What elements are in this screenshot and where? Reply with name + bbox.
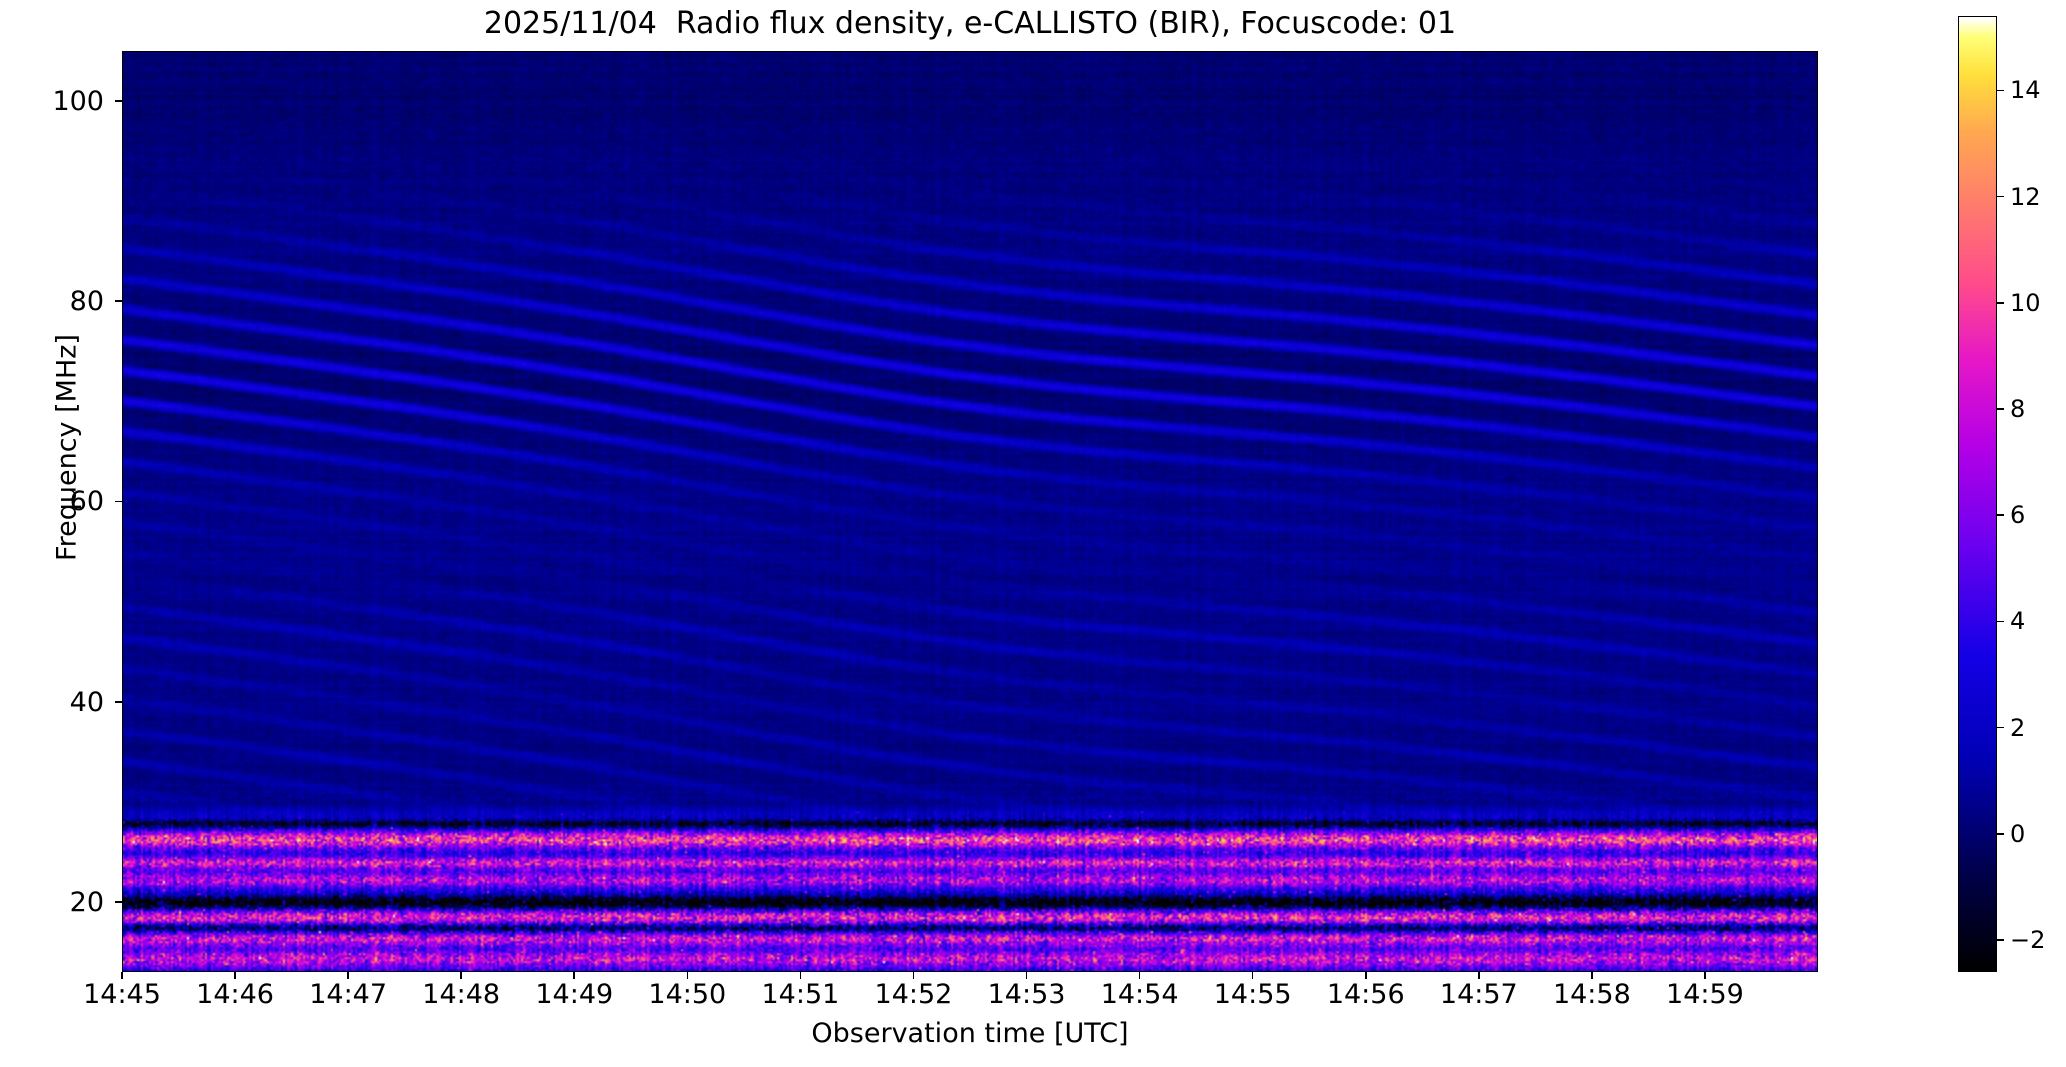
y-axis-tick-mark [115, 100, 122, 102]
y-axis-tick-label: 100 [4, 88, 104, 115]
x-axis-tick-mark [687, 972, 689, 979]
x-axis-tick-mark [573, 972, 575, 979]
y-axis-tick-mark [115, 701, 122, 703]
x-axis-tick-mark [1252, 972, 1254, 979]
x-axis-label: Observation time [UTC] [122, 1018, 1818, 1049]
x-axis-tick-mark [913, 972, 915, 979]
colorbar[interactable] [1958, 16, 1997, 972]
colorbar-tick-mark [1997, 408, 2004, 410]
y-axis-tick-label: 60 [4, 488, 104, 515]
y-axis-tick-label: 40 [4, 689, 104, 716]
colorbar-tick-label: 8 [2010, 397, 2064, 421]
colorbar-tick-label: 12 [2010, 185, 2064, 209]
x-axis-tick-mark [121, 972, 123, 979]
spectrogram-image [123, 52, 1818, 972]
colorbar-tick-label: 14 [2010, 78, 2064, 102]
colorbar-tick-label: 2 [2010, 716, 2064, 740]
y-axis-tick-mark [115, 300, 122, 302]
colorbar-tick-label: −2 [2010, 928, 2064, 952]
x-axis-tick-mark [1365, 972, 1367, 979]
x-axis-tick-mark [1478, 972, 1480, 979]
colorbar-tick-mark [1997, 514, 2004, 516]
colorbar-tick-mark [1997, 833, 2004, 835]
colorbar-tick-mark [1997, 196, 2004, 198]
colorbar-gradient [1959, 17, 1996, 971]
colorbar-tick-mark [1997, 90, 2004, 92]
page-title: 2025/11/04 Radio flux density, e-CALLIST… [122, 4, 1818, 44]
figure-canvas: 2025/11/04 Radio flux density, e-CALLIST… [0, 0, 2066, 1067]
x-axis-tick-label: 14:59 [1625, 981, 1785, 1008]
x-axis-tick-mark [1591, 972, 1593, 979]
colorbar-tick-mark [1997, 727, 2004, 729]
spectrogram-axes[interactable] [122, 51, 1818, 972]
y-axis-tick-mark [115, 901, 122, 903]
y-axis-tick-label: 20 [4, 889, 104, 916]
x-axis-tick-mark [347, 972, 349, 979]
colorbar-tick-label: 4 [2010, 609, 2064, 633]
y-axis-tick-mark [115, 501, 122, 503]
colorbar-tick-mark [1997, 939, 2004, 941]
colorbar-tick-label: 6 [2010, 503, 2064, 527]
x-axis-tick-mark [1026, 972, 1028, 979]
y-axis-tick-label: 80 [4, 288, 104, 315]
x-axis-tick-mark [800, 972, 802, 979]
x-axis-tick-mark [1704, 972, 1706, 979]
colorbar-tick-mark [1997, 621, 2004, 623]
x-axis-tick-mark [460, 972, 462, 979]
colorbar-tick-label: 10 [2010, 291, 2064, 315]
x-axis-tick-mark [1139, 972, 1141, 979]
colorbar-tick-mark [1997, 302, 2004, 304]
x-axis-tick-mark [234, 972, 236, 979]
colorbar-tick-label: 0 [2010, 822, 2064, 846]
